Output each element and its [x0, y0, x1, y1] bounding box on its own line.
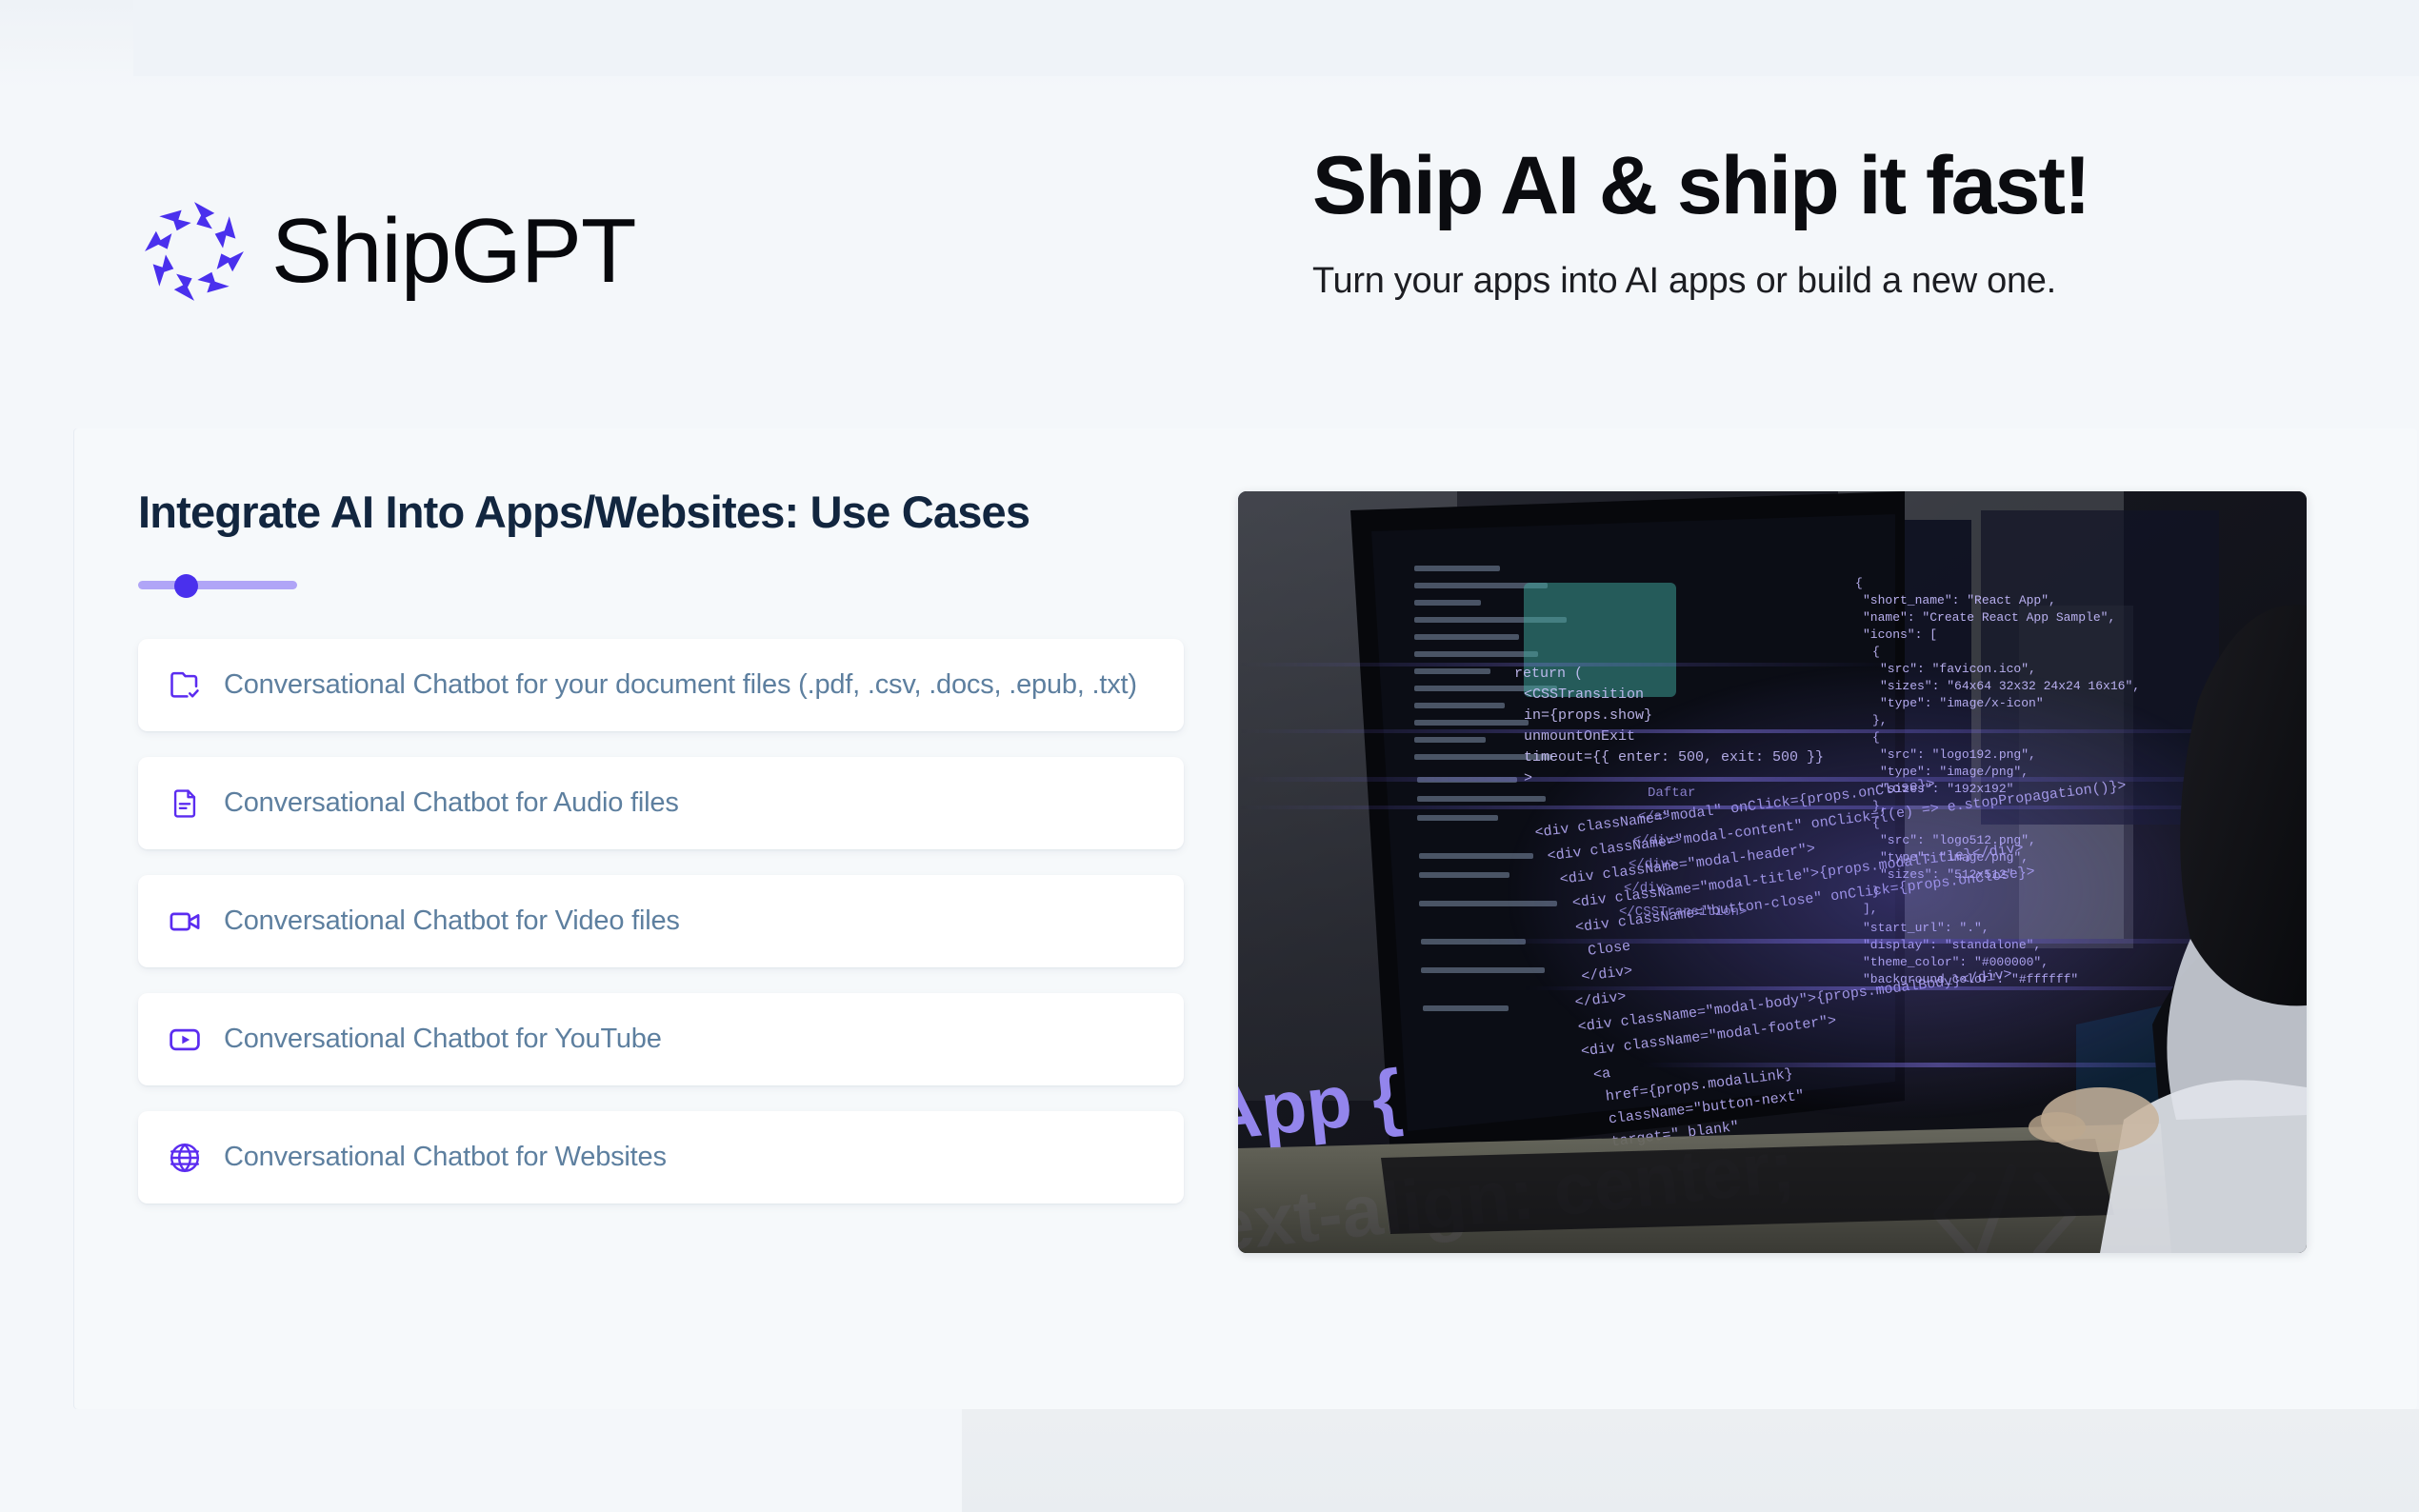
svg-text:in={props.show}: in={props.show} — [1524, 707, 1652, 724]
list-item[interactable]: Conversational Chatbot for Video files — [138, 875, 1184, 967]
page-header: ShipGPT Ship AI & ship it fast! Turn you… — [0, 143, 2419, 390]
bottom-panel-strip — [962, 1409, 2419, 1512]
top-panel-strip — [133, 0, 2419, 76]
hero-image: return ( <CSSTransition in={props.show} … — [1238, 491, 2307, 1253]
list-item[interactable]: Conversational Chatbot for your document… — [138, 639, 1184, 731]
use-cases-section: Integrate AI Into Apps/Websites: Use Cas… — [138, 486, 1186, 1204]
svg-text:"short_name": "React App",: "short_name": "React App", — [1863, 593, 2056, 607]
brand-name: ShipGPT — [271, 206, 635, 297]
svg-text:return (: return ( — [1514, 666, 1583, 682]
section-title: Integrate AI Into Apps/Websites: Use Cas… — [138, 486, 1186, 538]
video-camera-icon — [167, 904, 203, 940]
globe-icon — [167, 1140, 203, 1176]
carousel-slider[interactable] — [138, 578, 297, 591]
slider-track[interactable] — [138, 581, 297, 589]
list-item-label: Conversational Chatbot for Audio files — [224, 787, 679, 819]
svg-text:{: { — [1855, 576, 1863, 590]
youtube-play-icon — [167, 1022, 203, 1058]
list-item-label: Conversational Chatbot for Websites — [224, 1142, 667, 1173]
list-item[interactable]: Conversational Chatbot for YouTube — [138, 993, 1184, 1085]
svg-text:"icons": [: "icons": [ — [1863, 627, 1937, 642]
file-text-icon — [167, 786, 203, 822]
slider-thumb[interactable] — [174, 574, 198, 598]
pinwheel-arrows-icon — [138, 195, 250, 308]
svg-text:<a: <a — [1592, 1065, 1611, 1084]
list-item[interactable]: Conversational Chatbot for Audio files — [138, 757, 1184, 849]
folder-check-icon — [167, 667, 203, 704]
list-item-label: Conversational Chatbot for YouTube — [224, 1024, 662, 1055]
page-subtitle: Turn your apps into AI apps or build a n… — [1312, 261, 2322, 302]
list-item-label: Conversational Chatbot for your document… — [224, 669, 1137, 701]
page-title: Ship AI & ship it fast! — [1312, 143, 2322, 229]
brand-logo[interactable]: ShipGPT — [138, 195, 635, 308]
hero-copy: Ship AI & ship it fast! Turn your apps i… — [1312, 143, 2322, 302]
svg-text:{: { — [1872, 645, 1880, 659]
list-item[interactable]: Conversational Chatbot for Websites — [138, 1111, 1184, 1204]
list-item-label: Conversational Chatbot for Video files — [224, 905, 680, 937]
use-case-list: Conversational Chatbot for your document… — [138, 639, 1186, 1204]
svg-text:"name": "Create React App Samp: "name": "Create React App Sample", — [1863, 610, 2115, 625]
svg-text:<CSSTransition: <CSSTransition — [1524, 686, 1644, 703]
